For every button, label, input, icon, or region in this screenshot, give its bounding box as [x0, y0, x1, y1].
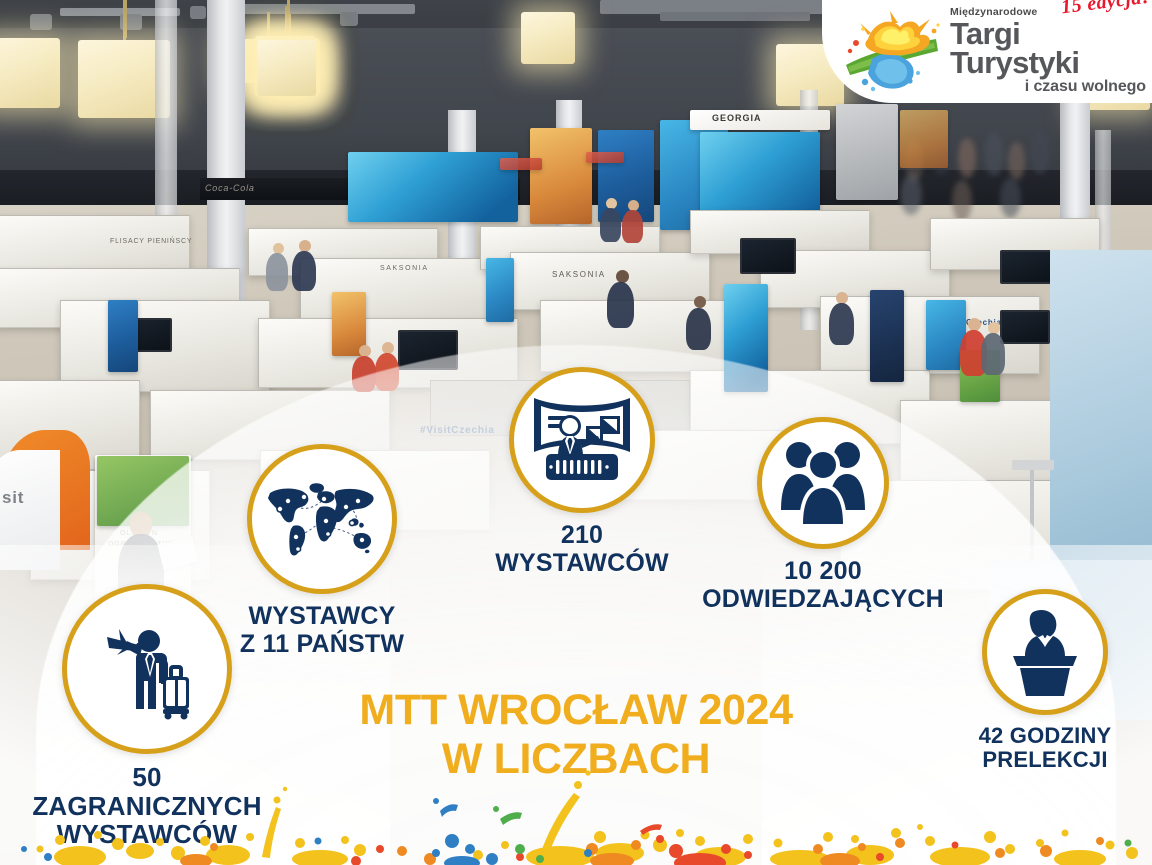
logo-subtitle: i czasu wolnego [950, 79, 1152, 96]
booth-label-georgia: GEORGIA [712, 113, 762, 123]
person-head [694, 296, 706, 308]
exhibitor-banner [586, 152, 624, 163]
stat-wystawcy[interactable]: 210 WYSTAWCÓW [509, 367, 705, 577]
exhibitor-banner [500, 158, 542, 170]
crowd-figure [1000, 178, 1021, 218]
paint-splash-icon [838, 11, 946, 93]
ceiling-spot [340, 12, 358, 26]
event-logo-panel[interactable]: 15 edycja! Międzynarodowe Targi Turystyk… [822, 0, 1152, 103]
lamp-cord [123, 0, 126, 40]
stat-label: 10 200 ODWIEDZAJĄCYCH [693, 558, 953, 613]
stat-icon-ring [509, 367, 655, 513]
rollup-banner [486, 258, 514, 322]
exhibitor-banner [530, 128, 592, 224]
person-body [981, 333, 1005, 375]
person-body [292, 251, 316, 291]
crowd-figure [1030, 130, 1050, 174]
person-body [622, 210, 643, 243]
world-map-icon [266, 479, 378, 559]
crowd-figure [952, 180, 972, 222]
hall-pillar [155, 0, 177, 250]
stat-icon-ring [757, 417, 889, 549]
exhibitor-banner [900, 110, 948, 168]
person-body [829, 303, 854, 345]
person-body [600, 208, 621, 242]
ceiling-spot [30, 14, 52, 30]
booth-monitor [1000, 250, 1054, 284]
poster-canvas: Coca-Cola GEORGIA [0, 0, 1152, 865]
booth-monitor [740, 238, 796, 274]
logo-text-block: 15 edycja! Międzynarodowe Targi Turystyk… [950, 7, 1152, 96]
group-of-people-icon [775, 438, 871, 528]
wall-signage-text: Coca-Cola [205, 183, 255, 193]
hanging-lamp [258, 40, 316, 96]
crowd-figure [984, 132, 1004, 176]
booth-monitor [1000, 310, 1050, 344]
exhibitor-banner [348, 152, 518, 222]
headline-line-1: MTT WROCŁAW 2024 [359, 686, 792, 734]
person-body [266, 253, 288, 291]
ceiling-rail [215, 4, 415, 14]
lamp-cord [286, 6, 289, 38]
exhibitor-banner [836, 104, 898, 200]
hanging-lamp [521, 12, 575, 64]
ceiling-fixture [1012, 460, 1054, 470]
person-body [607, 282, 634, 328]
booth-label-saksonia-2: SAKSONIA [552, 270, 606, 279]
rollup-banner [870, 290, 904, 382]
stat-icon-ring [247, 444, 397, 594]
stat-label: 210 WYSTAWCÓW [459, 522, 705, 577]
logo-title: Targi Turystyki [950, 19, 1152, 79]
ceiling-spot [190, 6, 206, 19]
booth-label: FLISACY PIENIŃSCY [110, 238, 192, 245]
stat-wystawcy-z-panstw[interactable]: WYSTAWCY Z 11 PAŃSTW [247, 444, 447, 658]
person-body [686, 308, 711, 350]
hanging-lamp [0, 38, 60, 108]
rollup-banner [108, 300, 138, 372]
visit-banner-text: sit [2, 488, 24, 508]
crowd-figure [1008, 142, 1025, 180]
paint-splatter-decoration [0, 745, 1152, 865]
exhibition-booth-icon [528, 392, 636, 488]
stat-odwiedzajacy[interactable]: 10 200 ODWIEDZAJĄCYCH [757, 417, 953, 613]
crowd-figure [900, 175, 922, 215]
hall-pillar [207, 0, 245, 300]
stat-label: WYSTAWCY Z 11 PAŃSTW [197, 603, 447, 658]
crowd-figure [958, 138, 976, 178]
ceiling-rail [660, 12, 810, 21]
speaker-at-podium-icon [999, 606, 1091, 698]
booth-label-saksonia: SAKSONIA [380, 265, 429, 272]
